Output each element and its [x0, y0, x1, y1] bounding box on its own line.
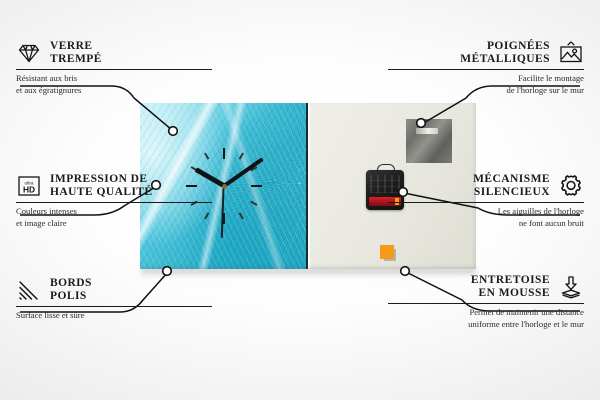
feature-title: MÉCANISMESILENCIEUX [473, 173, 550, 199]
feature-title: ENTRETOISEEN MOUSSE [471, 274, 550, 300]
diamond-icon [16, 40, 42, 66]
connector-dot-bords-polis [163, 267, 172, 276]
feature-divider [388, 202, 584, 203]
feature-description: Permet de maintenir une distanceuniforme… [388, 307, 584, 329]
feature-description: Surface lisse et sûre [16, 310, 212, 321]
feature-divider [16, 202, 212, 203]
feature-header: ultra HD IMPRESSION DEHAUTE QUALITÉ [16, 173, 212, 199]
feature-title: BORDSPOLIS [50, 277, 92, 303]
hanging-frame-icon [558, 40, 584, 66]
infographic-canvas: VERRETREMPÉ Résistant aux briset aux égr… [0, 0, 600, 400]
feature-divider [388, 69, 584, 70]
feature-title: IMPRESSION DEHAUTE QUALITÉ [50, 173, 153, 199]
feature-verre-trempe: VERRETREMPÉ Résistant aux briset aux égr… [16, 40, 212, 96]
feature-entretoise-en-mousse: ENTRETOISEEN MOUSSE Permet de maintenir … [388, 274, 584, 330]
feature-title: VERRETREMPÉ [50, 40, 102, 66]
feature-header: POIGNÉESMÉTALLIQUES [388, 40, 584, 66]
feature-header: VERRETREMPÉ [16, 40, 212, 66]
feature-header: BORDSPOLIS [16, 277, 212, 303]
feature-header: MÉCANISMESILENCIEUX [388, 173, 584, 199]
feature-divider [16, 69, 212, 70]
gear-icon [558, 173, 584, 199]
feature-divider [16, 306, 212, 307]
feature-header: ENTRETOISEEN MOUSSE [388, 274, 584, 300]
feature-description: Couleurs intenseset image claire [16, 206, 212, 228]
feature-description: Résistant aux briset aux égratignures [16, 73, 212, 95]
feature-impression-haute-qualite: ultra HD IMPRESSION DEHAUTE QUALITÉ Coul… [16, 173, 212, 229]
feature-description: Facilite le montagede l'horloge sur le m… [388, 73, 584, 95]
connector-dot-poignees [417, 119, 426, 128]
connector-dot-verre-trempe [169, 127, 178, 136]
feature-bords-polis: BORDSPOLIS Surface lisse et sûre [16, 277, 212, 322]
feature-title: POIGNÉESMÉTALLIQUES [460, 40, 550, 66]
svg-text:HD: HD [23, 184, 35, 194]
feature-description: Les aiguilles de l'horlogene font aucun … [388, 206, 584, 228]
polished-edge-icon [16, 277, 42, 303]
ultra-hd-icon: ultra HD [16, 173, 42, 199]
feature-mecanisme-silencieux: MÉCANISMESILENCIEUX Les aiguilles de l'h… [388, 173, 584, 229]
feature-poignees-metalliques: POIGNÉESMÉTALLIQUES Facilite le montaged… [388, 40, 584, 96]
foam-spacer-icon [558, 274, 584, 300]
feature-divider [388, 303, 584, 304]
